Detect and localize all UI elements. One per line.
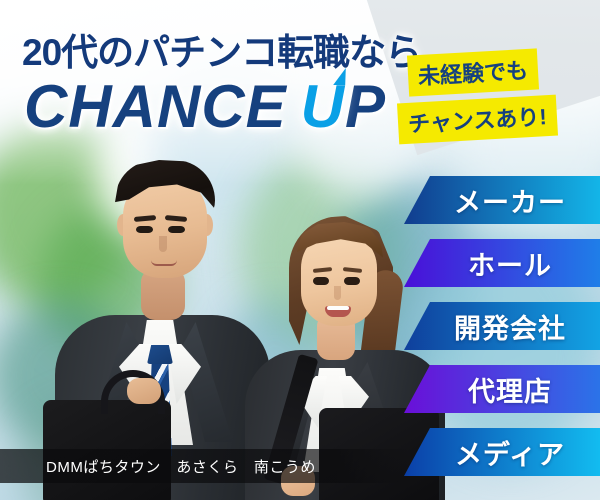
badge-line-1: 未経験でも xyxy=(407,48,539,96)
male-tie-knot xyxy=(147,345,173,364)
logo-word-up: UP xyxy=(301,73,386,140)
category-button-media[interactable]: メディア xyxy=(404,428,600,476)
category-label: 開発会社 xyxy=(438,307,566,346)
male-eye-right xyxy=(168,226,185,233)
badge-line-2: チャンスあり! xyxy=(397,95,558,145)
female-teeth xyxy=(327,306,349,310)
headline-text: 20代のパチンコ転職なら xyxy=(22,22,421,76)
male-hand xyxy=(127,378,161,404)
category-label: メーカー xyxy=(438,181,566,220)
category-button-list: メーカー ホール 開発会社 代理店 メディア xyxy=(404,176,600,491)
category-button-developer[interactable]: 開発会社 xyxy=(404,302,600,350)
female-eye-left xyxy=(313,277,329,285)
logo-letter-p: P xyxy=(345,73,386,140)
category-label: 代理店 xyxy=(452,370,552,409)
category-label: メディア xyxy=(439,433,565,472)
logo-letter-u: U xyxy=(301,72,345,141)
male-mouth xyxy=(151,260,177,266)
category-label: ホール xyxy=(452,244,552,283)
category-button-maker[interactable]: メーカー xyxy=(404,176,600,224)
credit-bar: DMMぱちタウン あさくら 南こうめ xyxy=(0,449,410,483)
female-eye-right xyxy=(344,277,360,285)
male-model-photo xyxy=(55,150,270,500)
category-button-hall[interactable]: ホール xyxy=(404,239,600,287)
logo-word-chance: CHANCE xyxy=(24,73,287,140)
category-button-agency[interactable]: 代理店 xyxy=(404,365,600,413)
female-nose xyxy=(334,286,341,300)
credit-text: DMMぱちタウン あさくら 南こうめ xyxy=(0,456,316,477)
chance-up-logo: CHANCEUP xyxy=(24,72,386,141)
male-eye-left xyxy=(136,226,153,233)
highlight-badge: 未経験でも チャンスあり! xyxy=(398,52,594,140)
male-nose xyxy=(159,236,167,252)
banner-advertisement[interactable]: 20代のパチンコ転職なら CHANCEUP 未経験でも チャンスあり! メーカー… xyxy=(0,0,600,500)
